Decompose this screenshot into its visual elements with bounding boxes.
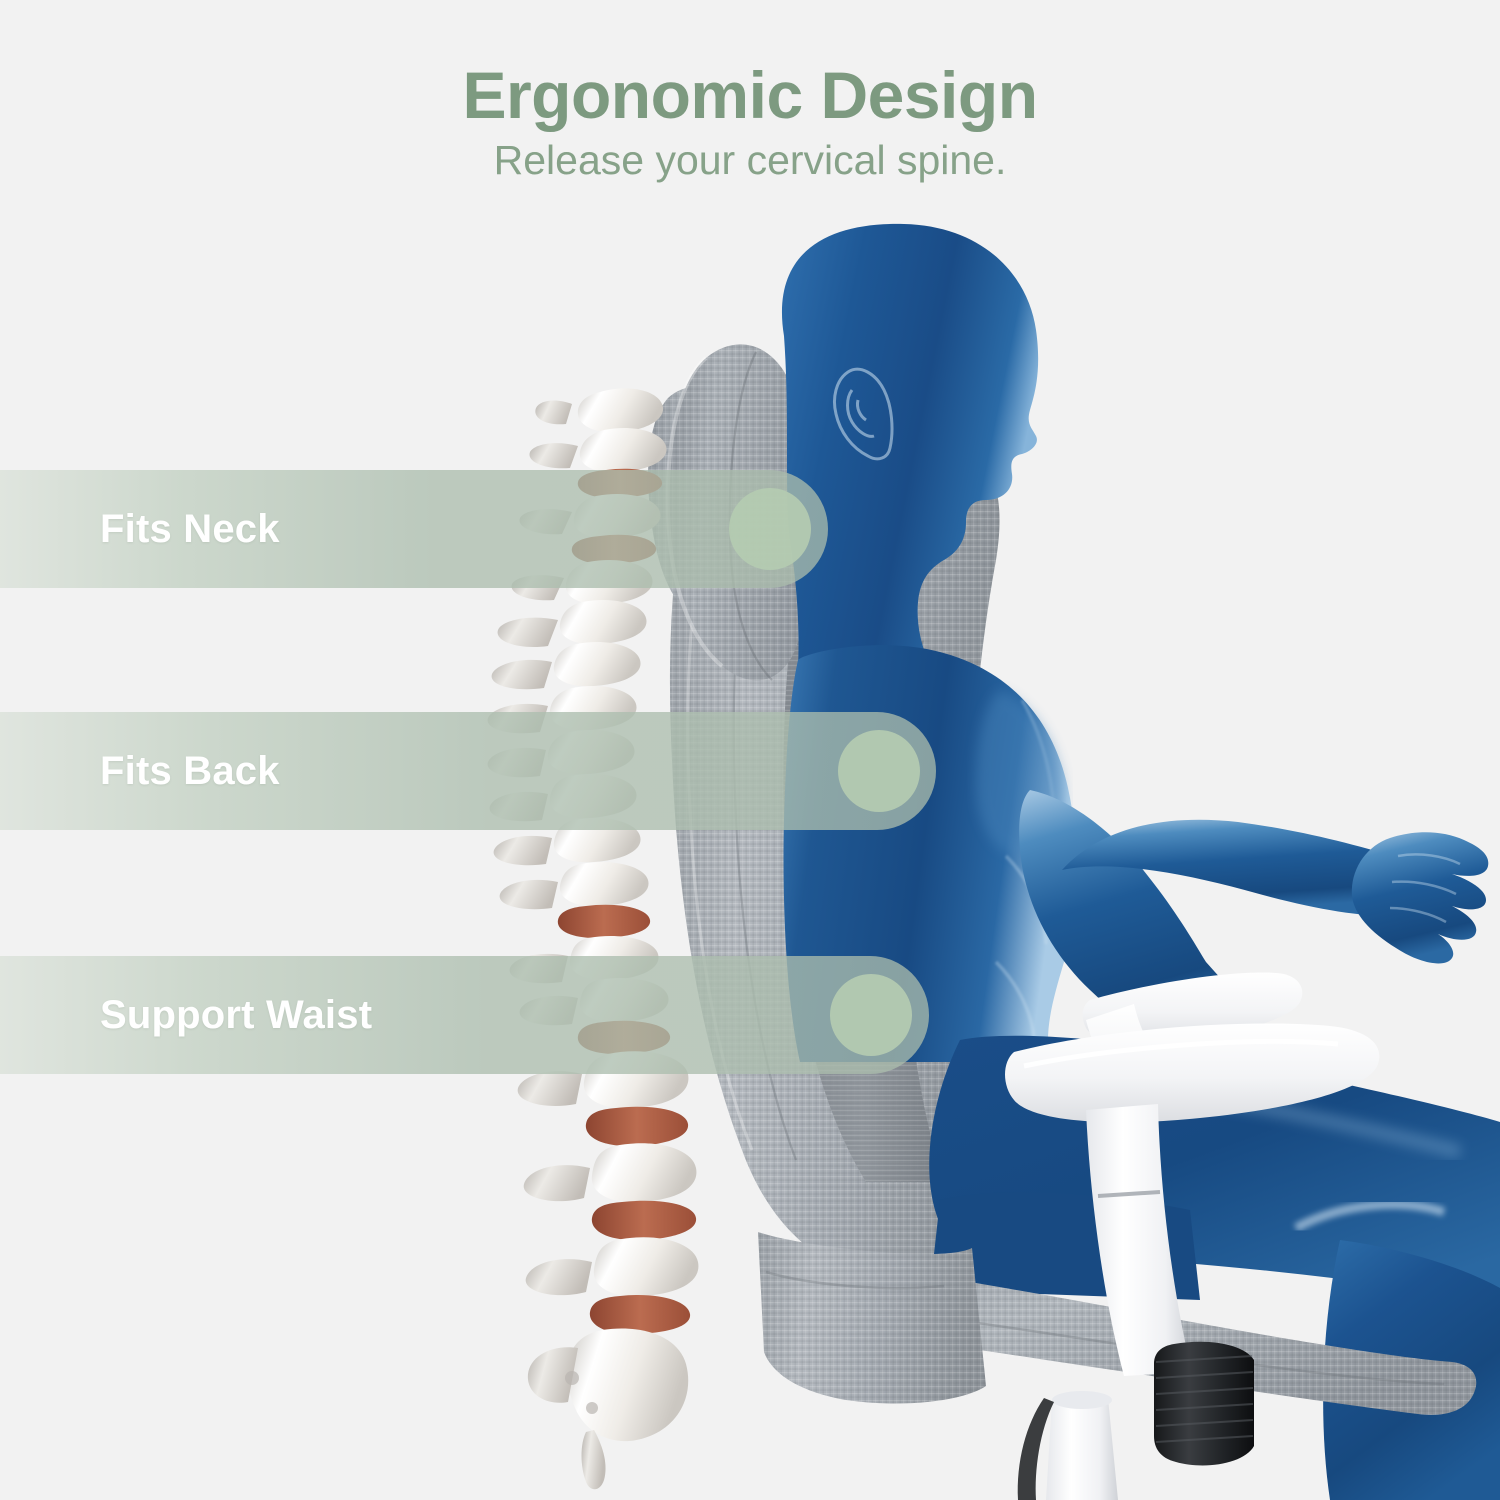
page-title: Ergonomic Design bbox=[0, 0, 1500, 129]
feature-label-fits-back: Fits Back bbox=[100, 749, 280, 794]
feature-label-fits-neck: Fits Neck bbox=[100, 507, 280, 552]
feature-bar-support-waist[interactable]: Support Waist bbox=[0, 956, 929, 1074]
feature-dot-fits-back bbox=[838, 730, 920, 812]
feature-bar-fits-back[interactable]: Fits Back bbox=[0, 712, 936, 830]
page-subtitle: Release your cervical spine. bbox=[0, 129, 1500, 182]
feature-bars: Fits Neck Fits Back Support Waist bbox=[0, 0, 1500, 1500]
product-feature-graphic: Fits Neck Fits Back Support Waist Ergono… bbox=[0, 0, 1500, 1500]
feature-label-support-waist: Support Waist bbox=[100, 993, 372, 1038]
feature-bar-fits-neck[interactable]: Fits Neck bbox=[0, 470, 828, 588]
feature-dot-fits-neck bbox=[729, 488, 811, 570]
feature-dot-support-waist bbox=[830, 974, 912, 1056]
header: Ergonomic Design Release your cervical s… bbox=[0, 0, 1500, 182]
